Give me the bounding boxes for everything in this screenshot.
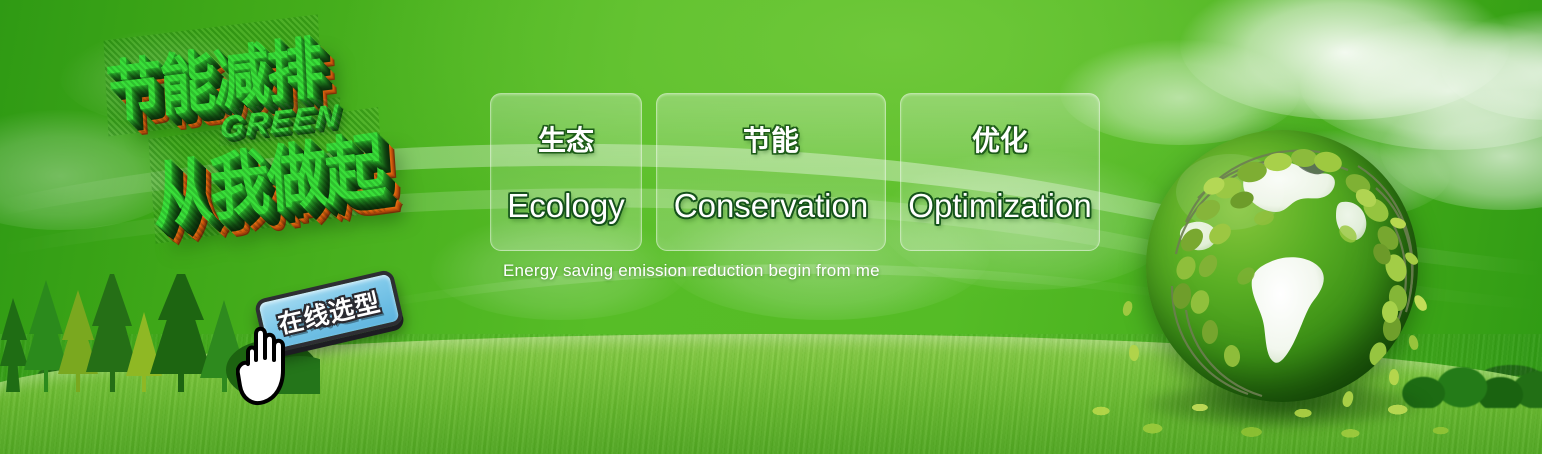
globe-sphere: [1146, 130, 1418, 402]
cloud-icon: [0, 110, 190, 230]
eco-promo-banner: 节能减排 GREEN 从我做起 在线选型 生态 Ecology 节能 Conse…: [0, 0, 1542, 454]
feature-card-en-label: Optimization: [908, 187, 1091, 225]
headline-line-2: 从我做起: [148, 107, 385, 244]
feature-card-conservation[interactable]: 节能 Conservation: [656, 93, 886, 251]
banner-tagline: Energy saving emission reduction begin f…: [503, 261, 880, 281]
feature-card-ecology[interactable]: 生态 Ecology: [490, 93, 642, 251]
feature-card-en-label: Conservation: [674, 187, 868, 225]
globe-vine-leaves: [1152, 130, 1418, 402]
headline-line-1: 节能减排: [103, 14, 322, 136]
headline-3d: 节能减排 GREEN 从我做起: [92, 36, 492, 271]
hand-pointer-icon: [236, 312, 322, 408]
cloud-icon: [60, 30, 280, 125]
leaf-fleck: [1121, 300, 1135, 317]
feature-card-cn-label: 优化: [972, 119, 1028, 159]
fallen-leaves-pile: [1058, 390, 1488, 454]
feature-card-en-label: Ecology: [507, 187, 624, 225]
leaf-fleck: [1128, 345, 1139, 362]
globe-leaf-cluster: [1171, 148, 1410, 368]
leafy-globe-icon: [1128, 122, 1438, 432]
cloud-icon: [1440, 10, 1542, 120]
headline-accent: GREEN: [219, 97, 340, 146]
feature-card-list: 生态 Ecology 节能 Conservation 优化 Optimizati…: [490, 93, 1100, 251]
feature-card-optimization[interactable]: 优化 Optimization: [900, 93, 1100, 251]
feature-card-cn-label: 节能: [743, 119, 799, 159]
cloud-icon: [1180, 0, 1510, 120]
feature-card-cn-label: 生态: [538, 119, 594, 159]
